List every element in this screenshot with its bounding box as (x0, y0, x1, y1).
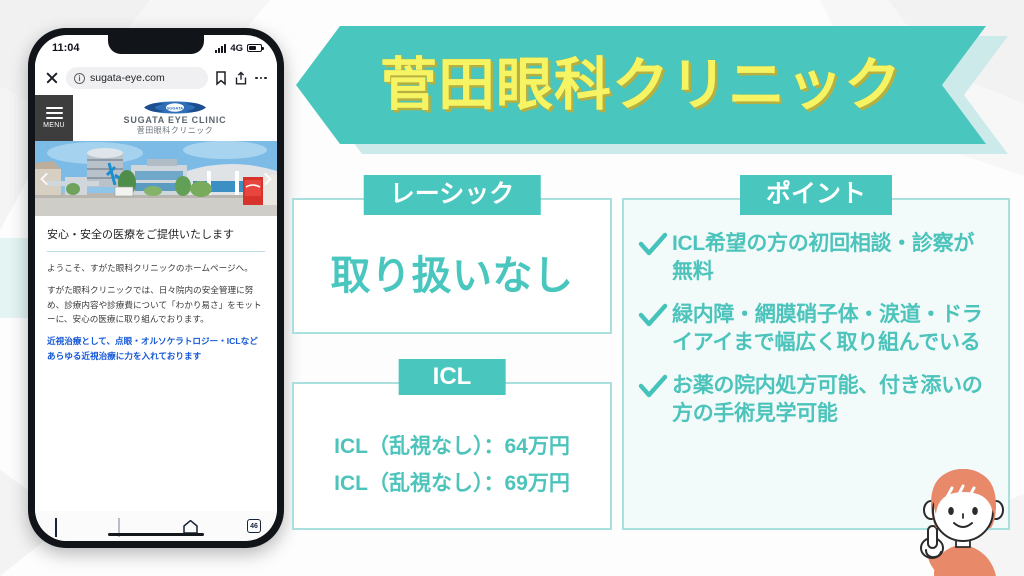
site-brand: SUGATA SUGATA EYE CLINIC 菅田眼科クリニック (73, 95, 277, 141)
phone-body: 11:04 4G i sugata-eye.com (28, 28, 284, 548)
article-content: 安心・安全の医療をご提供いたします ようこそ、すがた眼科クリニックのホームページ… (35, 216, 277, 511)
icl-price-list: ICL（乱視なし）：64万円 ICL（乱視なし）：69万円 (294, 384, 610, 528)
point-text: お薬の院内処方可能、付き添いの方の手術見学可能 (672, 372, 992, 428)
list-item: お薬の院内処方可能、付き添いの方の手術見学可能 (638, 372, 992, 428)
phone-notch (108, 35, 204, 54)
brand-name-jp: 菅田眼科クリニック (137, 125, 214, 136)
signal-bars-icon (215, 44, 226, 53)
check-icon (638, 303, 668, 334)
lasik-status-text: 取り扱いなし (294, 200, 610, 332)
hero-photo (35, 141, 277, 216)
brand-name-en: SUGATA EYE CLINIC (124, 115, 227, 125)
status-time: 11:04 (52, 42, 80, 54)
banner-hexagon: 菅田眼科クリニック (296, 26, 986, 144)
lasik-card: レーシック 取り扱いなし (292, 198, 612, 334)
page-title: 菅田眼科クリニック (380, 57, 902, 114)
points-list: ICL希望の方の初回相談・診察が無料 緑内障・網膜硝子体・涙道・ドライアイまで幅… (624, 200, 1008, 438)
article-link[interactable]: 近視治療として、点眼・オルソケラトロジー・ICLなどあらゆる近視治療に力を入れて… (47, 334, 265, 364)
title-divider (47, 251, 265, 252)
article-paragraph-2: すがた眼科クリニックでは、日々院内の安全管理に努め、診療内容や診療費について「わ… (47, 283, 265, 327)
info-icon[interactable]: i (74, 73, 85, 84)
home-indicator (108, 533, 204, 537)
url-text: sugata-eye.com (90, 72, 165, 84)
point-text: 緑内障・網膜硝子体・涙道・ドライアイまで幅広く取り組んでいる (672, 301, 992, 357)
tab-count-icon[interactable]: 46 (247, 519, 261, 533)
icl-price-row: ICL（乱視なし）：69万円 (334, 467, 570, 497)
close-icon[interactable] (44, 70, 60, 86)
point-text: ICL希望の方の初回相談・診察が無料 (672, 230, 992, 286)
lasik-card-tab: レーシック (364, 175, 541, 215)
icl-price-row: ICL（乱視なし）：64万円 (334, 430, 570, 460)
check-icon (638, 232, 668, 263)
hamburger-menu-icon (46, 107, 63, 119)
list-item: 緑内障・網膜硝子体・涙道・ドライアイまで幅広く取り組んでいる (638, 301, 992, 357)
sugata-eye-logo: SUGATA (144, 100, 206, 115)
url-bar[interactable]: i sugata-eye.com (66, 67, 208, 89)
share-icon[interactable] (234, 71, 248, 86)
phone-screen: 11:04 4G i sugata-eye.com (35, 35, 277, 541)
list-item: ICL希望の方の初回相談・診察が無料 (638, 230, 992, 286)
phone-mockup: 11:04 4G i sugata-eye.com (28, 28, 284, 548)
article-title: 安心・安全の医療をご提供いたします (47, 227, 265, 251)
bookmark-icon[interactable] (214, 71, 228, 86)
icl-card: ICL ICL（乱視なし）：64万円 ICL（乱視なし）：69万円 (292, 382, 612, 530)
network-label: 4G (230, 43, 243, 54)
battery-icon (247, 44, 262, 52)
nav-back-button[interactable] (51, 518, 68, 535)
title-banner: 菅田眼科クリニック (296, 26, 1008, 154)
pointing-woman-illustration (904, 454, 1022, 576)
browser-toolbar: i sugata-eye.com (35, 61, 277, 95)
check-icon (638, 374, 668, 405)
browser-bottom-nav: 46 (35, 511, 277, 541)
icl-card-tab: ICL (399, 359, 506, 395)
site-header: MENU SUGATA SUGATA EYE CLINIC 菅田眼科クリニック (35, 95, 277, 141)
menu-label: MENU (43, 122, 65, 129)
svg-text:SUGATA: SUGATA (167, 105, 183, 110)
article-paragraph-1: ようこそ、すがた眼科クリニックのホームページへ。 (47, 261, 265, 276)
more-options-icon[interactable] (254, 77, 268, 80)
site-menu-button[interactable]: MENU (35, 95, 73, 141)
points-card-tab: ポイント (740, 175, 892, 215)
